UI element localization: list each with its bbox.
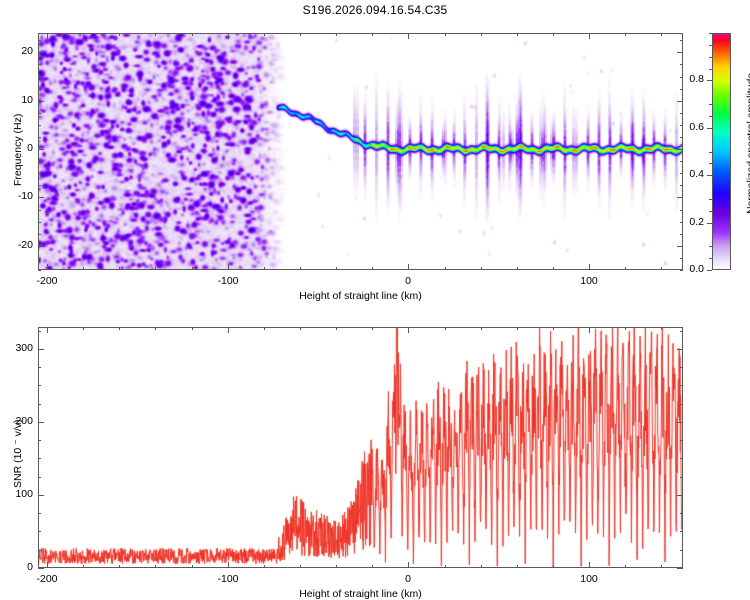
axis-tick	[680, 185, 683, 186]
axis-tick	[680, 40, 683, 41]
axis-tick	[83, 327, 84, 330]
axis-tick	[680, 64, 683, 65]
axis-tick	[680, 161, 683, 162]
axis-tick	[228, 264, 229, 270]
figure-title: S196.2026.094.16.54.C35	[0, 3, 750, 17]
axis-tick	[372, 327, 373, 330]
axis-tick	[408, 327, 409, 333]
axis-tick	[38, 513, 41, 514]
axis-tick	[38, 40, 41, 41]
snr-frame	[38, 327, 683, 568]
axis-tick	[83, 33, 84, 36]
axis-tick	[680, 550, 683, 551]
axis-tick	[47, 562, 48, 568]
axis-tick	[83, 565, 84, 568]
axis-tick	[38, 422, 44, 423]
axis-tick	[408, 562, 409, 568]
axis-tick	[192, 565, 193, 568]
axis-tick	[707, 80, 712, 81]
snr-y-axis-label: SNR (10 ⁻ v/v)	[12, 419, 24, 488]
axis-tick	[38, 64, 41, 65]
axis-tick	[680, 77, 683, 78]
axis-tick	[680, 531, 683, 532]
axis-tick	[680, 125, 683, 126]
axis-tick	[264, 267, 265, 270]
axis-tick	[38, 137, 41, 138]
axis-tick	[336, 327, 337, 330]
axis-tick	[680, 113, 683, 114]
spectrogram-y-axis-label: Frequency (Hz)	[12, 113, 24, 185]
axis-tick	[38, 404, 41, 405]
axis-tick	[589, 562, 590, 568]
axis-tick	[445, 267, 446, 270]
axis-tick	[709, 45, 712, 46]
axis-tick	[192, 33, 193, 36]
axis-tick	[38, 349, 44, 350]
axis-tick-label: -200	[36, 573, 57, 585]
axis-tick	[300, 267, 301, 270]
axis-tick	[661, 327, 662, 330]
axis-tick	[38, 125, 41, 126]
axis-tick	[661, 267, 662, 270]
axis-tick	[680, 173, 683, 174]
axis-tick	[680, 385, 683, 386]
axis-tick	[192, 327, 193, 330]
axis-tick-label: -100	[217, 573, 238, 585]
axis-tick	[680, 258, 683, 259]
axis-tick-label: 100	[580, 275, 598, 287]
colorbar-frame	[712, 33, 731, 270]
axis-tick	[372, 565, 373, 568]
axis-tick	[38, 89, 41, 90]
axis-tick	[517, 327, 518, 330]
axis-tick	[553, 565, 554, 568]
axis-tick	[709, 69, 712, 70]
axis-tick	[408, 33, 409, 39]
axis-tick	[677, 52, 683, 53]
axis-tick	[47, 33, 48, 39]
axis-tick	[38, 440, 41, 441]
axis-tick	[589, 33, 590, 39]
axis-tick	[372, 33, 373, 36]
axis-tick	[445, 33, 446, 36]
axis-tick	[517, 267, 518, 270]
axis-tick	[408, 264, 409, 270]
snr-panel	[38, 327, 683, 568]
axis-tick	[155, 267, 156, 270]
axis-tick	[83, 267, 84, 270]
axis-tick	[192, 267, 193, 270]
axis-tick	[336, 565, 337, 568]
axis-tick	[300, 565, 301, 568]
axis-tick	[38, 331, 41, 332]
axis-tick	[38, 161, 41, 162]
axis-tick	[709, 211, 712, 212]
axis-tick	[119, 327, 120, 330]
axis-tick-label: 0	[405, 275, 411, 287]
axis-tick	[625, 33, 626, 36]
axis-tick	[709, 57, 712, 58]
axis-tick	[709, 258, 712, 259]
axis-tick	[677, 246, 683, 247]
axis-tick	[38, 568, 44, 569]
axis-tick	[677, 349, 683, 350]
axis-tick	[707, 175, 712, 176]
axis-tick	[553, 267, 554, 270]
axis-tick	[336, 267, 337, 270]
axis-tick-label: -10	[18, 190, 33, 202]
axis-tick	[47, 327, 48, 333]
axis-tick-label: -200	[36, 275, 57, 287]
axis-tick-label: 100	[15, 488, 33, 500]
axis-tick	[680, 89, 683, 90]
spectrogram-x-axis-label: Height of straight line (km)	[299, 290, 422, 302]
axis-tick	[47, 264, 48, 270]
axis-tick	[38, 222, 41, 223]
axis-tick	[680, 210, 683, 211]
axis-tick	[680, 404, 683, 405]
axis-tick	[228, 33, 229, 39]
axis-tick	[38, 258, 41, 259]
axis-tick	[38, 234, 41, 235]
axis-tick	[680, 367, 683, 368]
axis-tick-label: 100	[580, 573, 598, 585]
axis-tick	[709, 104, 712, 105]
axis-tick-label: 300	[15, 342, 33, 354]
axis-tick	[680, 137, 683, 138]
axis-tick	[680, 458, 683, 459]
axis-tick-label: 0.6	[689, 121, 704, 133]
axis-tick	[680, 331, 683, 332]
axis-tick	[589, 264, 590, 270]
axis-tick	[680, 477, 683, 478]
axis-tick	[336, 33, 337, 36]
axis-tick	[445, 327, 446, 330]
axis-tick	[709, 152, 712, 153]
axis-tick	[680, 234, 683, 235]
axis-tick	[707, 128, 712, 129]
axis-tick	[625, 327, 626, 330]
axis-tick	[300, 327, 301, 330]
axis-tick	[38, 197, 44, 198]
axis-tick	[707, 223, 712, 224]
axis-tick	[445, 565, 446, 568]
axis-tick	[38, 458, 41, 459]
axis-tick	[553, 327, 554, 330]
figure-root: S196.2026.094.16.54.C35 -200-1000100-20-…	[0, 0, 750, 600]
axis-tick	[709, 163, 712, 164]
axis-tick	[709, 199, 712, 200]
axis-tick	[661, 565, 662, 568]
axis-tick	[119, 267, 120, 270]
colorbar-panel	[712, 33, 731, 270]
axis-tick	[38, 185, 41, 186]
axis-tick	[155, 33, 156, 36]
axis-tick	[119, 33, 120, 36]
spectrogram-frame	[38, 33, 683, 270]
axis-tick-label: 0.0	[689, 263, 704, 275]
axis-tick	[661, 33, 662, 36]
axis-tick-label: 0.4	[689, 168, 704, 180]
axis-tick	[38, 113, 41, 114]
axis-tick	[680, 270, 683, 271]
axis-tick	[38, 495, 44, 496]
axis-tick-label: 0	[405, 573, 411, 585]
axis-tick	[677, 101, 683, 102]
axis-tick	[38, 367, 41, 368]
axis-tick	[300, 33, 301, 36]
axis-tick	[228, 562, 229, 568]
snr-x-axis-label: Height of straight line (km)	[299, 588, 422, 600]
axis-tick	[680, 222, 683, 223]
axis-tick	[680, 440, 683, 441]
spectrogram-panel	[38, 33, 683, 270]
axis-tick	[677, 197, 683, 198]
axis-tick	[155, 565, 156, 568]
axis-tick	[709, 246, 712, 247]
axis-tick	[38, 52, 44, 53]
axis-tick	[38, 385, 41, 386]
axis-tick	[38, 149, 44, 150]
axis-tick	[553, 33, 554, 36]
axis-tick	[38, 550, 41, 551]
axis-tick	[517, 565, 518, 568]
axis-tick	[481, 267, 482, 270]
axis-tick	[481, 327, 482, 330]
axis-tick	[38, 210, 41, 211]
axis-tick	[372, 267, 373, 270]
axis-tick-label: 20	[21, 45, 33, 57]
axis-tick	[707, 270, 712, 271]
axis-tick	[677, 149, 683, 150]
axis-tick	[677, 495, 683, 496]
axis-tick	[228, 327, 229, 333]
axis-tick	[38, 270, 41, 271]
axis-tick	[677, 422, 683, 423]
axis-tick	[677, 568, 683, 569]
axis-tick	[517, 33, 518, 36]
axis-tick	[155, 327, 156, 330]
axis-tick	[709, 116, 712, 117]
axis-tick-label: 0.2	[689, 216, 704, 228]
axis-tick	[119, 565, 120, 568]
axis-tick	[589, 327, 590, 333]
axis-tick	[264, 565, 265, 568]
axis-tick	[38, 531, 41, 532]
axis-tick	[625, 565, 626, 568]
colorbar-label: Normalized spectral amplitude	[745, 72, 750, 213]
axis-tick-label: -20	[18, 239, 33, 251]
axis-tick	[481, 565, 482, 568]
axis-tick	[709, 33, 712, 34]
axis-tick	[38, 477, 41, 478]
axis-tick-label: 10	[21, 94, 33, 106]
axis-tick	[481, 33, 482, 36]
axis-tick-label: 0	[27, 561, 33, 573]
axis-tick	[38, 173, 41, 174]
axis-tick-label: -100	[217, 275, 238, 287]
axis-tick	[680, 513, 683, 514]
axis-tick-label: 0.8	[689, 73, 704, 85]
axis-tick	[38, 101, 44, 102]
axis-tick	[38, 77, 41, 78]
axis-tick	[625, 267, 626, 270]
axis-tick	[38, 246, 44, 247]
axis-tick	[264, 327, 265, 330]
axis-tick-label: 0	[27, 142, 33, 154]
axis-tick	[264, 33, 265, 36]
